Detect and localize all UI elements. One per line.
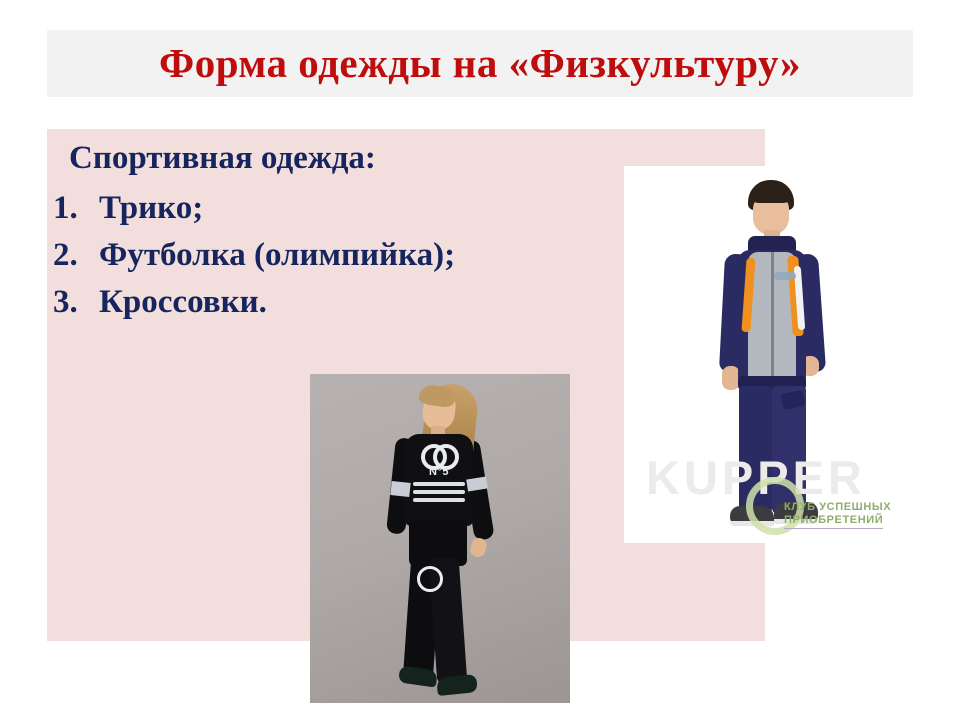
girl-sweatshirt-stripe <box>413 490 465 494</box>
list-item: 3. Кроссовки. <box>47 279 667 326</box>
list-item-number: 2. <box>47 232 99 279</box>
page-title: Форма одежды на «Физкультуру» <box>159 43 801 84</box>
list-item-number: 1. <box>47 185 99 232</box>
girl-sweatshirt-print-text: N°5 <box>423 466 455 478</box>
watermark-tagline-line1: КЛУБ УСПЕШНЫХ <box>784 501 891 515</box>
list-item-number: 3. <box>47 279 99 326</box>
watermark-tagline: КЛУБ УСПЕШНЫХ ПРИОБРЕТЕНИЙ <box>784 501 891 530</box>
girl-right-hand <box>469 536 489 558</box>
girl-sweatshirt-stripe <box>413 482 465 486</box>
slide-title-band: Форма одежды на «Физкультуру» <box>47 30 913 97</box>
girl-right-sneaker <box>436 674 478 696</box>
watermark-tagline-line2: ПРИОБРЕТЕНИЙ <box>784 514 883 529</box>
text-block: Спортивная одежда: 1. Трико; 2. Футболка… <box>47 137 667 326</box>
boy-jacket-logo <box>774 272 796 280</box>
section-heading: Спортивная одежда: <box>69 137 667 179</box>
boy-in-tracksuit-photo: KUPPER КЛУБ УСПЕШНЫХ ПРИОБРЕТЕНИЙ <box>624 166 918 543</box>
list-item-label: Кроссовки. <box>99 279 267 326</box>
list-item: 1. Трико; <box>47 185 667 232</box>
clothing-list: 1. Трико; 2. Футболка (олимпийка); 3. Кр… <box>47 185 667 326</box>
girl-left-cuff-stripe <box>390 481 410 497</box>
boy-jacket-zipper <box>771 252 774 382</box>
girl-sweatshirt-stripe <box>413 498 465 502</box>
girl-pants-logo <box>417 566 443 592</box>
list-item-label: Футболка (олимпийка); <box>99 232 455 279</box>
list-item-label: Трико; <box>99 185 203 232</box>
girl-figure: N°5 <box>365 382 515 700</box>
slide-canvas: Форма одежды на «Физкультуру» Спортивная… <box>0 0 960 720</box>
list-item: 2. Футболка (олимпийка); <box>47 232 667 279</box>
boy-fringe <box>750 190 792 203</box>
girl-in-tracksuit-photo: N°5 <box>310 374 570 703</box>
